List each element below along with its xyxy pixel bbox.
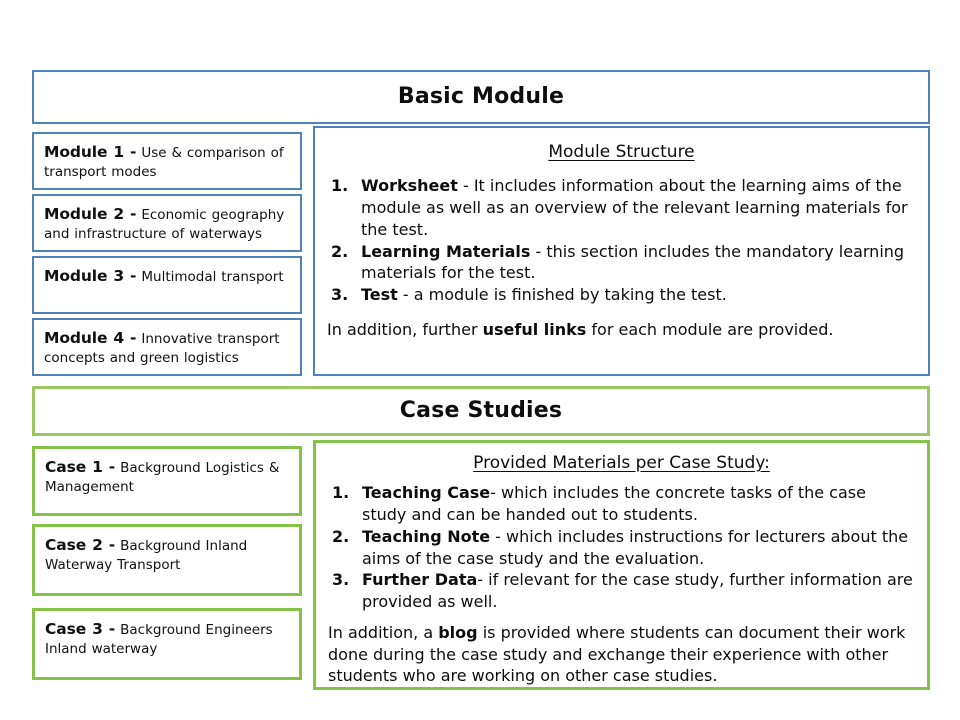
provided-materials-heading: Provided Materials per Case Study:: [328, 453, 915, 473]
case-studies-title: Case Studies: [400, 400, 562, 422]
provided-item-3: 3. Further Data- if relevant for the cas…: [328, 569, 915, 613]
basic-module-banner: Basic Module: [32, 70, 930, 124]
module-box-3-text: Module 3 - Multimodal transport: [44, 265, 291, 287]
case-2-dash: -: [109, 536, 115, 554]
case-studies-banner: Case Studies: [32, 386, 930, 436]
module-box-1[interactable]: Module 1 - Use & comparison of transport…: [32, 132, 302, 190]
case-box-2-text: Case 2 - Background Inland Waterway Tran…: [45, 534, 290, 575]
item-2-separator: -: [530, 242, 546, 261]
item-1-separator: -: [458, 176, 474, 195]
module-box-2-text: Module 2 - Economic geography and infras…: [44, 203, 291, 244]
module-structure-panel: Module Structure 1. Worksheet - It inclu…: [313, 126, 930, 376]
module-3-label: Module 3: [44, 267, 124, 285]
provided-1-term: Teaching Case: [362, 483, 490, 502]
footnote-after: for each module are provided.: [586, 320, 833, 339]
module-structure-item-1: 1. Worksheet - It includes information a…: [327, 175, 916, 240]
module-structure-footnote: In addition, further useful links for ea…: [327, 319, 916, 341]
module-3-description: Multimodal transport: [141, 269, 283, 285]
case-3-dash: -: [109, 620, 115, 638]
provided-marker-1: 1.: [332, 482, 349, 504]
provided-footnote-before: In addition, a: [328, 623, 438, 642]
item-1-term: Worksheet: [361, 176, 458, 195]
module-4-label: Module 4: [44, 329, 124, 347]
provided-1-separator: -: [490, 483, 501, 502]
footnote-bold: useful links: [483, 320, 587, 339]
module-structure-item-3-text: Test - a module is finished by taking th…: [361, 284, 916, 306]
case-1-dash: -: [109, 458, 115, 476]
provided-item-3-text: Further Data- if relevant for the case s…: [362, 569, 915, 613]
module-structure-item-3: 3. Test - a module is finished by taking…: [327, 284, 916, 306]
item-3-separator: -: [398, 285, 414, 304]
case-box-1[interactable]: Case 1 - Background Logistics & Manageme…: [32, 446, 302, 516]
case-1-label: Case 1: [45, 458, 103, 476]
provided-item-1-text: Teaching Case- which includes the concre…: [362, 482, 915, 526]
provided-materials-panel: Provided Materials per Case Study: 1. Te…: [313, 440, 930, 690]
case-box-2[interactable]: Case 2 - Background Inland Waterway Tran…: [32, 524, 302, 596]
module-structure-heading: Module Structure: [327, 142, 916, 162]
provided-2-term: Teaching Note: [362, 527, 490, 546]
module-2-dash: -: [130, 205, 136, 223]
provided-materials-list: 1. Teaching Case- which includes the con…: [328, 482, 915, 613]
module-box-3[interactable]: Module 3 - Multimodal transport: [32, 256, 302, 314]
module-structure-item-1-text: Worksheet - It includes information abou…: [361, 175, 916, 240]
module-4-dash: -: [130, 329, 136, 347]
slide-canvas: Basic Module Module 1 - Use & comparison…: [0, 0, 960, 720]
module-box-1-text: Module 1 - Use & comparison of transport…: [44, 141, 291, 182]
item-2-term: Learning Materials: [361, 242, 530, 261]
provided-marker-2: 2.: [332, 526, 349, 548]
module-2-label: Module 2: [44, 205, 124, 223]
list-marker-1: 1.: [331, 175, 348, 197]
module-structure-item-2: 2. Learning Materials - this section inc…: [327, 241, 916, 285]
module-structure-list: 1. Worksheet - It includes information a…: [327, 175, 916, 306]
item-3-rest: a module is finished by taking the test.: [414, 285, 727, 304]
provided-3-separator: -: [477, 570, 488, 589]
case-2-label: Case 2: [45, 536, 103, 554]
module-box-4[interactable]: Module 4 - Innovative transport concepts…: [32, 318, 302, 376]
module-structure-item-2-text: Learning Materials - this section includ…: [361, 241, 916, 285]
provided-marker-3: 3.: [332, 569, 349, 591]
module-3-dash: -: [130, 267, 136, 285]
provided-footnote-bold: blog: [438, 623, 477, 642]
list-marker-3: 3.: [331, 284, 348, 306]
provided-materials-footnote: In addition, a blog is provided where st…: [328, 622, 915, 687]
provided-3-term: Further Data: [362, 570, 477, 589]
item-3-term: Test: [361, 285, 398, 304]
provided-item-1: 1. Teaching Case- which includes the con…: [328, 482, 915, 526]
provided-2-separator: -: [490, 527, 506, 546]
case-box-1-text: Case 1 - Background Logistics & Manageme…: [45, 456, 290, 497]
case-box-3[interactable]: Case 3 - Background Engineers Inland wat…: [32, 608, 302, 680]
case-box-3-text: Case 3 - Background Engineers Inland wat…: [45, 618, 290, 659]
footnote-before: In addition, further: [327, 320, 483, 339]
module-box-2[interactable]: Module 2 - Economic geography and infras…: [32, 194, 302, 252]
case-3-label: Case 3: [45, 620, 103, 638]
basic-module-title: Basic Module: [398, 86, 564, 108]
provided-item-2-text: Teaching Note - which includes instructi…: [362, 526, 915, 570]
module-1-dash: -: [130, 143, 136, 161]
provided-item-2: 2. Teaching Note - which includes instru…: [328, 526, 915, 570]
module-1-label: Module 1: [44, 143, 124, 161]
list-marker-2: 2.: [331, 241, 348, 263]
module-box-4-text: Module 4 - Innovative transport concepts…: [44, 327, 291, 368]
